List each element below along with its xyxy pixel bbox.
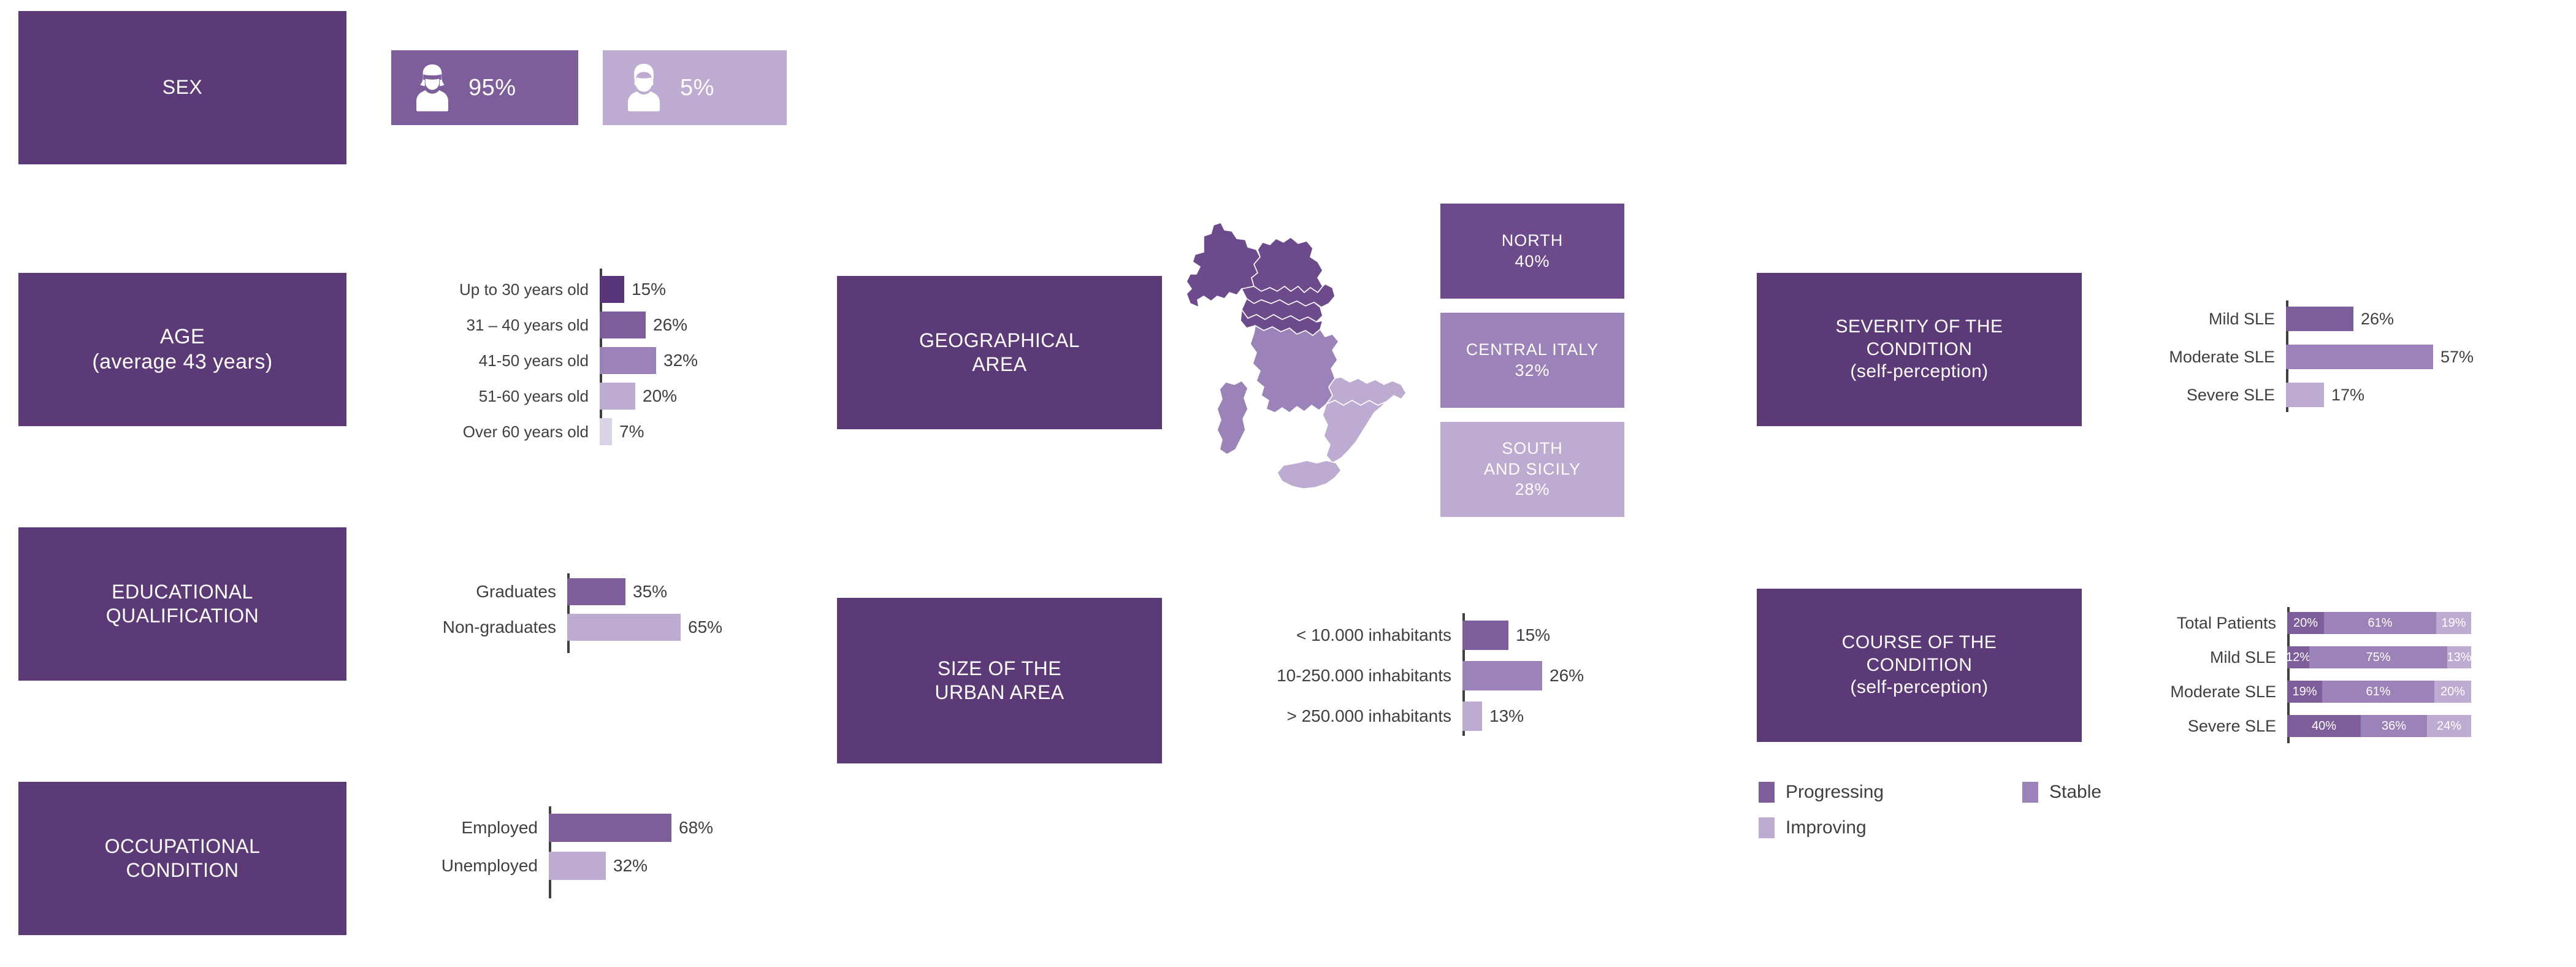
chart-age-bar-3 <box>600 383 635 410</box>
legend-swatch-improving <box>1759 817 1775 838</box>
region-north-name: NORTH <box>1502 231 1564 250</box>
sex-male-value: 5% <box>680 75 714 101</box>
region-central-text: CENTRAL ITALY 32% <box>1466 340 1599 381</box>
chart-education-bar-1 <box>567 614 681 641</box>
chart-occupation-label-1: Unemployed <box>441 856 538 876</box>
chart-age-label-4: Over 60 years old <box>463 422 589 441</box>
section-title-course-line2: CONDITION <box>1867 654 1973 677</box>
section-title-course-line3: (self-perception) <box>1850 676 1988 699</box>
section-title-severity-line2: CONDITION <box>1867 338 1973 361</box>
section-title-occupation-line2: CONDITION <box>126 858 239 882</box>
chart-age-label-2: 41-50 years old <box>479 351 589 370</box>
chart-course-seg-improving-1: 13% <box>2447 646 2471 668</box>
chart-course-label-3: Severe SLE <box>2188 715 2276 737</box>
legend-swatch-progressing <box>1759 782 1775 803</box>
male-icon <box>624 62 664 113</box>
region-north-value: 40% <box>1515 252 1550 270</box>
chart-education-label-0: Graduates <box>476 582 556 602</box>
chart-course-seg-stable-3: 36% <box>2361 715 2427 737</box>
chart-age-bar-0 <box>600 276 624 303</box>
chart-severity-bar-1 <box>2286 345 2433 369</box>
chart-urban-bar-0 <box>1462 621 1508 650</box>
chart-urban-value-2: 13% <box>1489 706 1524 726</box>
table-row: Moderate SLE 57% <box>2286 345 2544 369</box>
region-box-north: NORTH 40% <box>1440 204 1624 299</box>
legend-item-stable: Stable <box>2022 782 2101 803</box>
chart-course-seg-stable-0: 61% <box>2324 612 2436 634</box>
table-row: Total Patients 20% 61% 19% <box>2287 612 2471 634</box>
chart-age-value-1: 26% <box>653 315 687 335</box>
table-row: Moderate SLE 19% 61% 20% <box>2287 681 2471 703</box>
chart-course-label-2: Moderate SLE <box>2170 681 2276 703</box>
chart-age-bar-4 <box>600 418 612 445</box>
chart-course-seg-improving-2: 20% <box>2434 681 2471 703</box>
section-title-education: EDUCATIONAL QUALIFICATION <box>18 527 346 681</box>
chart-education-label-1: Non-graduates <box>443 617 556 637</box>
chart-occupation-value-0: 68% <box>679 818 713 838</box>
section-title-geography: GEOGRAPHICAL AREA <box>837 276 1162 429</box>
section-title-sex-label: SEX <box>162 75 203 99</box>
chart-occupation-bar-0 <box>549 814 671 842</box>
chart-age-bar-2 <box>600 347 656 374</box>
chart-age-bar-1 <box>600 312 646 338</box>
legend-swatch-stable <box>2022 782 2038 803</box>
region-south-name-line1: SOUTH <box>1502 439 1563 457</box>
table-row: Mild SLE 12% 75% 13% <box>2287 646 2471 668</box>
chart-course-label-0: Total Patients <box>2177 612 2276 634</box>
chart-severity-label-0: Mild SLE <box>2209 310 2275 329</box>
chart-occupation-value-1: 32% <box>613 856 648 876</box>
chart-severity-label-1: Moderate SLE <box>2169 348 2275 367</box>
section-title-urban-line2: URBAN AREA <box>934 681 1064 705</box>
section-title-education-line1: EDUCATIONAL <box>112 580 253 604</box>
section-title-course-line1: COURSE OF THE <box>1842 632 1997 654</box>
section-title-urban-line1: SIZE OF THE <box>938 657 1061 681</box>
region-south-text: SOUTH AND SICILY 28% <box>1484 438 1581 500</box>
chart-age-value-3: 20% <box>643 386 677 406</box>
section-title-urban: SIZE OF THE URBAN AREA <box>837 598 1162 763</box>
section-title-age-line1: AGE <box>160 324 205 350</box>
chart-age-label-1: 31 – 40 years old <box>467 316 589 335</box>
chart-course-seg-progressing-2: 19% <box>2287 681 2322 703</box>
chart-occupation-bar-1 <box>549 852 606 880</box>
map-region-central <box>1217 326 1339 454</box>
chart-occupation-label-0: Employed <box>461 818 538 838</box>
legend-label-progressing: Progressing <box>1786 782 1884 803</box>
sex-female-value: 95% <box>468 75 516 101</box>
section-title-age: AGE (average 43 years) <box>18 273 346 426</box>
chart-urban-label-0: < 10.000 inhabitants <box>1296 625 1451 645</box>
chart-age-label-0: Up to 30 years old <box>459 280 589 299</box>
region-central-value: 32% <box>1515 361 1550 380</box>
chart-education-value-1: 65% <box>688 617 722 637</box>
table-row: Mild SLE 26% <box>2286 307 2544 331</box>
chart-severity-value-0: 26% <box>2361 310 2394 329</box>
legend-label-stable: Stable <box>2049 782 2101 803</box>
female-icon <box>412 62 453 113</box>
chart-severity-bar-2 <box>2286 383 2324 407</box>
chart-course-legend: Progressing Stable Improving <box>1759 782 2225 849</box>
chart-course-label-1: Mild SLE <box>2210 646 2276 668</box>
chart-age-value-2: 32% <box>663 351 698 370</box>
section-title-severity: SEVERITY OF THE CONDITION (self-percepti… <box>1757 273 2082 426</box>
section-title-geography-line1: GEOGRAPHICAL <box>919 329 1080 353</box>
chart-severity-bar-0 <box>2286 307 2353 331</box>
chart-occupation: Employed 68% Unemployed 32% <box>549 806 978 904</box>
table-row: Unemployed 32% <box>549 852 917 880</box>
table-row: Severe SLE 40% 36% 24% <box>2287 715 2471 737</box>
section-title-occupation: OCCUPATIONAL CONDITION <box>18 782 346 935</box>
legend-item-progressing: Progressing <box>1759 782 1884 803</box>
chart-urban-bar-1 <box>1462 661 1542 690</box>
table-row: Severe SLE 17% <box>2286 383 2544 407</box>
chart-course-seg-progressing-1: 12% <box>2287 646 2309 668</box>
section-title-course: COURSE OF THE CONDITION (self-perception… <box>1757 589 2082 742</box>
chart-education-bar-0 <box>567 578 625 605</box>
chart-course-seg-improving-3: 24% <box>2427 715 2471 737</box>
chart-severity-value-2: 17% <box>2331 386 2364 405</box>
table-row: Employed 68% <box>549 814 917 842</box>
chart-urban-value-0: 15% <box>1516 625 1550 645</box>
chart-course-seg-progressing-3: 40% <box>2287 715 2361 737</box>
map-region-north <box>1187 223 1335 335</box>
chart-age-value-4: 7% <box>619 422 644 441</box>
region-box-central: CENTRAL ITALY 32% <box>1440 313 1624 408</box>
section-title-geography-line2: AREA <box>972 353 1026 376</box>
chart-urban-bar-2 <box>1462 701 1482 731</box>
legend-label-improving: Improving <box>1786 817 1867 838</box>
sex-tile-female: 95% <box>391 50 578 125</box>
chart-course: Total Patients 20% 61% 19% Mild SLE 12% … <box>2287 607 2545 748</box>
chart-severity: Mild SLE 26% Moderate SLE 57% Severe SLE… <box>2286 300 2576 423</box>
chart-urban-label-2: > 250.000 inhabitants <box>1286 706 1451 726</box>
section-title-severity-line1: SEVERITY OF THE <box>1835 316 2003 338</box>
section-title-severity-line3: (self-perception) <box>1850 361 1988 383</box>
region-south-value: 28% <box>1515 480 1550 499</box>
section-title-education-line2: QUALIFICATION <box>106 604 259 628</box>
chart-urban-value-1: 26% <box>1550 666 1584 686</box>
chart-course-seg-improving-0: 19% <box>2436 612 2471 634</box>
region-box-south: SOUTH AND SICILY 28% <box>1440 422 1624 517</box>
italy-map <box>1168 218 1426 494</box>
region-north-text: NORTH 40% <box>1502 231 1564 272</box>
chart-urban-label-1: 10-250.000 inhabitants <box>1277 666 1451 686</box>
chart-course-seg-stable-2: 61% <box>2322 681 2434 703</box>
region-south-name-line2: AND SICILY <box>1484 460 1581 478</box>
chart-course-seg-progressing-0: 20% <box>2287 612 2324 634</box>
chart-course-seg-stable-1: 75% <box>2309 646 2447 668</box>
chart-age-label-3: 51-60 years old <box>479 387 589 406</box>
chart-severity-label-2: Severe SLE <box>2187 386 2275 405</box>
legend-item-improving: Improving <box>1759 817 1867 838</box>
region-central-name: CENTRAL ITALY <box>1466 340 1599 359</box>
infographic-canvas: SEX 95% 5% AGE (average 43 years) Up to … <box>0 0 2576 967</box>
section-title-age-line2: (average 43 years) <box>92 350 272 375</box>
section-title-sex: SEX <box>18 11 346 164</box>
chart-age-value-0: 15% <box>632 280 666 299</box>
sex-tile-male: 5% <box>603 50 787 125</box>
chart-severity-value-1: 57% <box>2440 348 2474 367</box>
section-title-occupation-line1: OCCUPATIONAL <box>105 835 261 858</box>
chart-education-value-0: 35% <box>633 582 667 602</box>
